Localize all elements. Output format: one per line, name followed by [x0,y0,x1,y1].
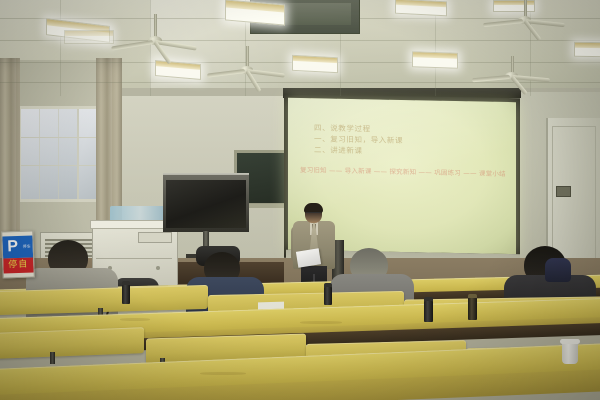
presenter[interactable] [291,204,337,290]
thermos-4-cap [468,294,477,298]
window-bar-2 [58,109,59,199]
teacher-desk-seam [96,258,172,259]
desk-grain-c [200,372,246,375]
paper-cup-rim [560,339,580,344]
window-bar-1 [39,109,40,199]
window-pane-left [21,109,77,199]
glasses-icon [306,212,321,216]
slide-text-block: 四、说教学过程 一、复习旧知，导入新课 二、讲进新课 [314,122,499,159]
paper-cup[interactable] [562,342,578,364]
classroom-photo: 四、说教学过程 一、复习旧知，导入新课 二、讲进新课 复习旧知 —— 导入新课 … [0,0,600,400]
bench-back-r2-a[interactable] [0,285,208,315]
thermos-3[interactable] [424,300,433,322]
thermos-3-cap [424,297,433,301]
desk-grain-b [300,321,342,324]
parking-sign-chinese: 停自 [3,257,34,273]
bench-leg-5 [50,352,55,364]
window-mullion-h1 [21,137,107,138]
thermos-2[interactable] [324,286,332,305]
ceiling-light-reflection [150,0,480,96]
parking-p-letter: P [5,236,20,257]
desk-knob-right[interactable] [156,266,160,270]
parking-sign-note: 停车 [23,244,31,250]
desk-grain-a [120,318,150,321]
parking-sign[interactable]: P 停车 停自 [1,230,35,278]
monitor-screen[interactable] [166,180,246,228]
thermos-1-cap [122,281,130,285]
backpack-right[interactable] [545,258,571,282]
window-mullion-h2 [21,165,107,166]
thermos-4[interactable] [468,297,477,320]
teacher-desk-tray [138,232,172,243]
paper-on-desk[interactable] [258,302,284,310]
window-mullion-v [77,109,79,199]
thermos-2-cap [324,283,332,287]
thermos-1[interactable] [122,284,130,304]
bench-back-r3-a[interactable] [0,327,144,359]
door-lock-icon[interactable] [556,186,571,197]
